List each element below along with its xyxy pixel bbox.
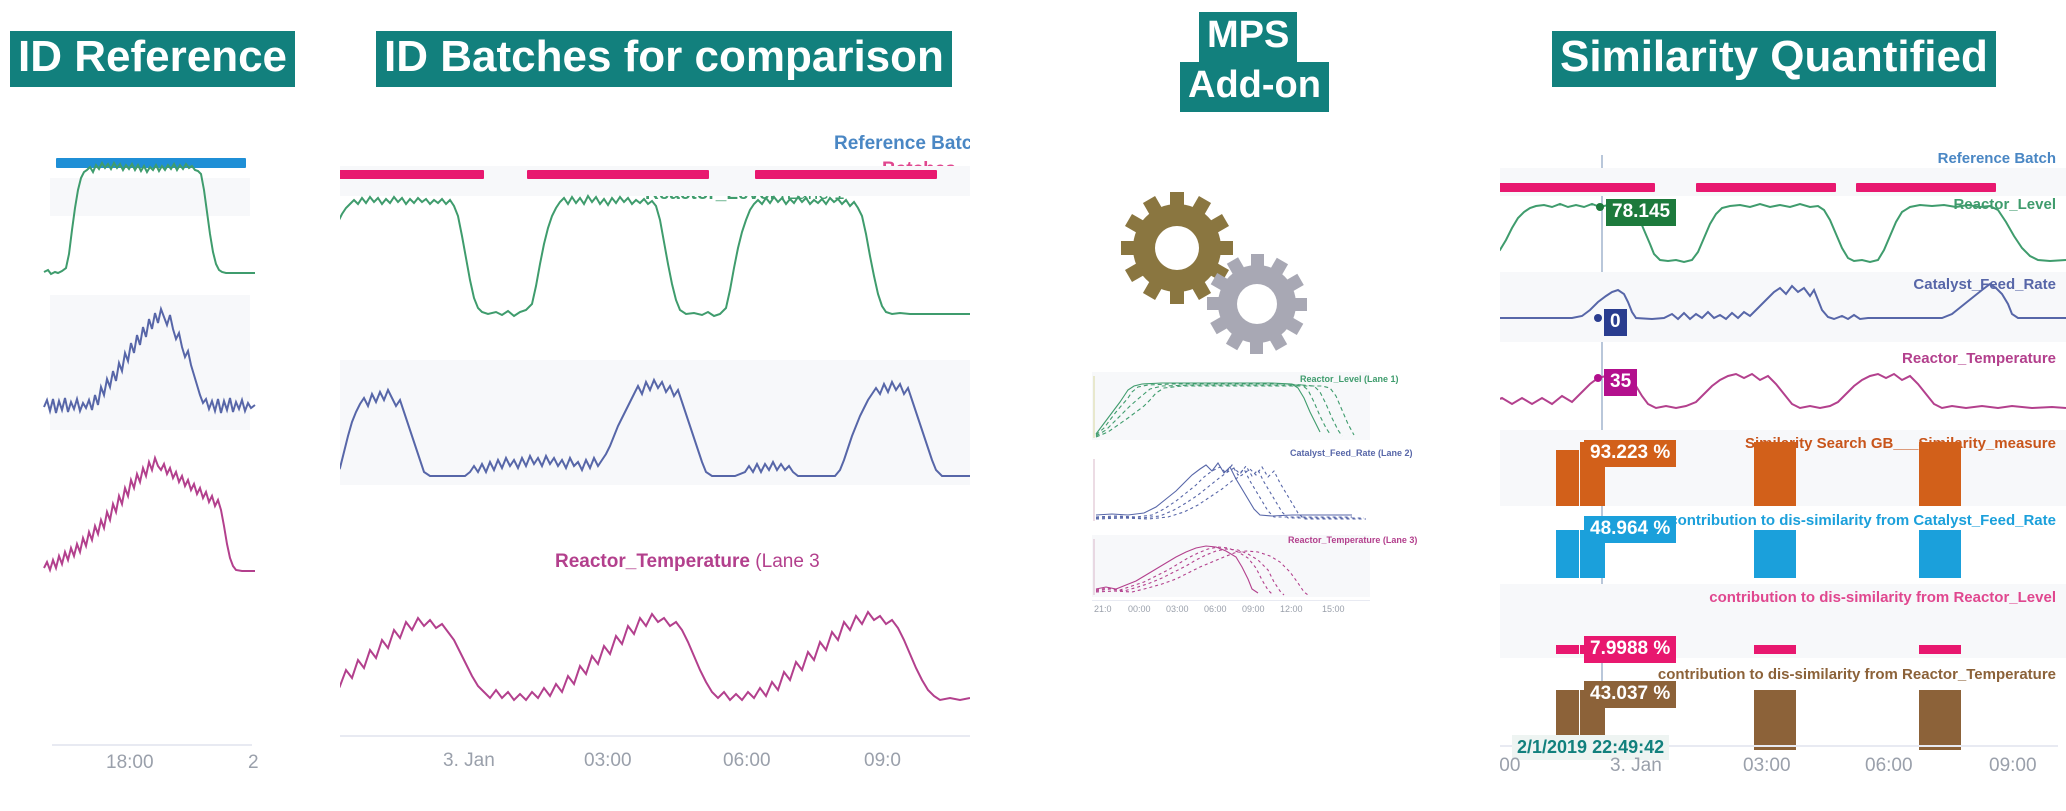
p2-lane2-catalyst-feed-rate (340, 372, 970, 492)
p2-lane3-reactor-temperature (340, 560, 970, 720)
mps-mini-tick-1: 00:00 (1128, 604, 1151, 614)
p4-value-contrib-rt: 43.037 % (1584, 681, 1676, 708)
p4-legend-contrib-rt: contribution to dis-similarity from Reac… (1658, 666, 2056, 683)
p4-contrib-cfr-bar-4 (1919, 530, 1961, 578)
panel-3-title-line2: Add-on (1180, 62, 1329, 112)
p2-batch-bar-1b (340, 170, 484, 179)
p1-tick-0: 18:00 (106, 752, 154, 774)
p2-legend-reference-batch: Reference Batch (834, 133, 970, 155)
mps-mini-x-axis (1092, 600, 1370, 601)
p4-tick-1: 3. Jan (1610, 755, 1662, 777)
p4-similarity-bar-1 (1556, 450, 1579, 506)
panel-1-title: ID Reference (10, 31, 295, 87)
p4-lane1-reactor-level (1500, 190, 2066, 270)
p4-legend-reference-batch: Reference Batch (1938, 150, 2056, 167)
p4-contrib-rt-bar-3 (1754, 690, 1796, 750)
panel-mps-addon: MPS Add-on (970, 0, 1500, 811)
p4-contrib-cfr-bar-3 (1754, 530, 1796, 578)
mps-mini-tick-2: 03:00 (1166, 604, 1189, 614)
mps-mini-lane2 (1092, 455, 1370, 523)
p2-x-axis (340, 735, 970, 737)
p4-tick-0: :00 (1500, 755, 1520, 777)
p4-value-contrib-cfr: 48.964 % (1584, 516, 1676, 543)
p1-lane2-catalyst-feed-rate (42, 295, 257, 430)
p2-batch-bar-2b (527, 170, 709, 179)
panel-id-batches-for-comparison: ID Batches for comparison Reference Batc… (340, 0, 970, 811)
p2-tick-1: 3. Jan (443, 750, 495, 772)
p4-similarity-bar-4 (1919, 442, 1961, 506)
p1-x-axis (52, 744, 252, 746)
p2-tick-3: 06:00 (723, 750, 771, 772)
mps-mini-tick-5: 12:00 (1280, 604, 1303, 614)
p4-tick-2: 03:00 (1743, 755, 1791, 777)
p4-value-reactor-temperature: 35 (1604, 369, 1637, 396)
p4-contrib-rl-bar-4 (1919, 645, 1961, 654)
mps-mini-tick-4: 09:00 (1242, 604, 1265, 614)
p4-tick-3: 06:00 (1865, 755, 1913, 777)
p4-similarity-bar-3 (1754, 442, 1796, 506)
p4-lane2-catalyst-feed-rate (1500, 272, 2066, 342)
p4-contrib-rl-bar-3 (1754, 645, 1796, 654)
mps-mini-tick-0: 21:0 (1094, 604, 1112, 614)
gear-brown-icon (1115, 190, 1325, 365)
panel-similarity-quantified: Similarity Quantified Reference Batch Ba… (1500, 0, 2066, 811)
p2-batch-bar-3b (755, 170, 937, 179)
panel-4-title: Similarity Quantified (1552, 31, 1996, 87)
p1-lane3-reactor-temperature (42, 440, 257, 585)
p4-value-contrib-rl: 7.9988 % (1584, 636, 1676, 663)
panel-2-title: ID Batches for comparison (376, 31, 952, 87)
p1-tick-1: 2 (248, 752, 259, 774)
mps-mini-tick-3: 06:00 (1204, 604, 1227, 614)
panel-3-title-line1: MPS (1199, 12, 1297, 62)
p2-tick-4: 09:0 (864, 750, 901, 772)
p1-lane1-reactor-level (42, 150, 257, 280)
p4-value-similarity-measure: 93.223 % (1584, 440, 1676, 467)
p4-contrib-rt-bar-4 (1919, 690, 1961, 750)
p4-contrib-rl-bar-1 (1556, 645, 1579, 654)
p4-tick-4: 09:00 (1989, 755, 2037, 777)
p2-lane1-reactor-level (340, 186, 970, 331)
mps-mini-tick-6: 15:00 (1322, 604, 1345, 614)
mps-mini-lane3 (1092, 535, 1370, 597)
panel-id-reference: ID Reference 18:00 2 (0, 0, 340, 811)
p4-contrib-cfr-bar-1 (1556, 530, 1579, 578)
p4-value-reactor-level: 78.145 (1606, 199, 1676, 226)
p4-value-catalyst-feed-rate: 0 (1604, 309, 1627, 336)
p2-tick-2: 03:00 (584, 750, 632, 772)
p4-legend-contrib-rl: contribution to dis-similarity from Reac… (1709, 589, 2056, 606)
p4-legend-contrib-cfr: contribution to dis-similarity from Cata… (1669, 512, 2056, 529)
mps-mini-lane1 (1092, 372, 1370, 440)
p4-lane3-reactor-temperature (1500, 358, 2066, 428)
